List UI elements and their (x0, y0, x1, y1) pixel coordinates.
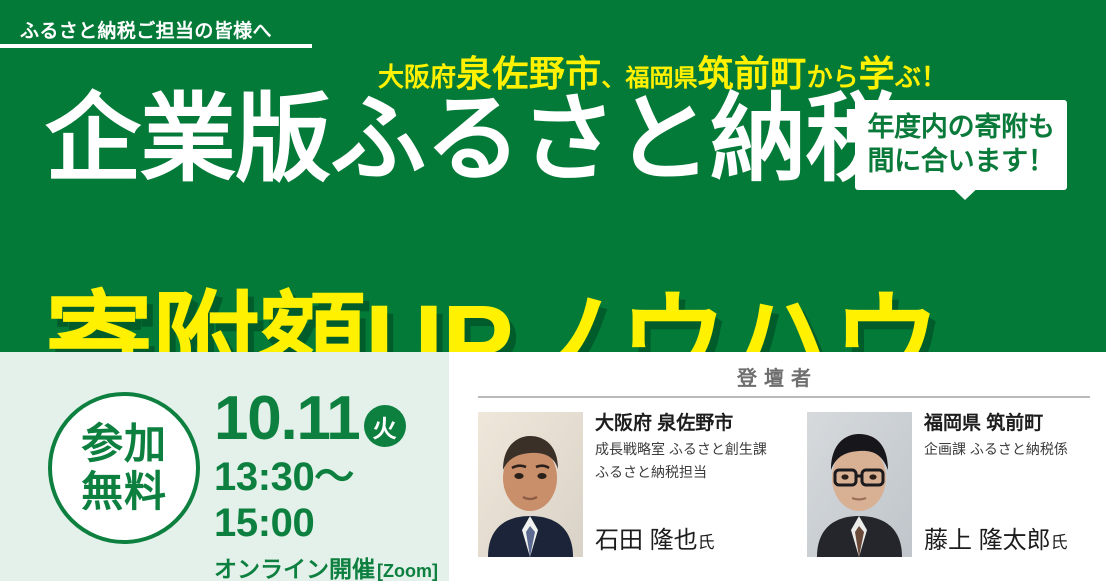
callout-pointer-icon (945, 181, 985, 200)
speakers-panel: 登壇者 (449, 352, 1106, 581)
event-format: オンライン開催 (214, 550, 375, 584)
free-badge-line-2: 無料 (81, 468, 167, 516)
event-info-panel: 参加 無料 10.11 火 13:30〜15:00 オンライン開催 [Zoom] (0, 352, 449, 581)
speaker-name-suffix: 氏 (1051, 533, 1068, 552)
speaker-name-row: 石田 隆也氏 (595, 527, 777, 557)
speakers-list: 大阪府 泉佐野市 成長戦略室 ふるさと創生課 ふるさと納税担当 石田 隆也氏 (478, 412, 1106, 557)
speaker-text: 福岡県 筑前町 企画課 ふるさと納税係 藤上 隆太郎氏 (924, 412, 1106, 557)
event-format-row: オンライン開催 [Zoom] (214, 550, 444, 584)
speaker-photo (478, 412, 583, 557)
title-line-1: 企業版ふるさと納税 (45, 88, 900, 192)
event-platform: [Zoom] (377, 561, 438, 582)
speakers-divider (478, 396, 1090, 398)
event-date: 10.11 (214, 388, 360, 450)
portrait-icon (807, 412, 912, 557)
callout-line-2: 間に合います！ (863, 144, 1059, 178)
callout-line-1: 年度内の寄附も (863, 110, 1059, 144)
title-line-2-wrapper: 寄附額UPノウハウ 寄附額UPノウハウ (45, 284, 1105, 352)
speaker-org: 福岡県 筑前町 (924, 412, 1106, 436)
speaker-name: 藤上 隆太郎 (924, 527, 1051, 554)
title-line-2: 寄附額UPノウハウ (45, 284, 939, 352)
eyebrow-text: ふるさと納税ご担当の皆様へ (20, 16, 272, 43)
eyebrow-underline (0, 44, 312, 48)
deadline-callout: 年度内の寄附も 間に合います！ (855, 100, 1067, 190)
day-of-week-badge: 火 (364, 405, 406, 447)
speaker-text: 大阪府 泉佐野市 成長戦略室 ふるさと創生課 ふるさと納税担当 石田 隆也氏 (595, 412, 777, 557)
event-date-block: 10.11 火 13:30〜15:00 オンライン開催 [Zoom] (214, 388, 444, 584)
free-admission-badge: 参加 無料 (48, 392, 200, 544)
speaker-dept-line-1: 企画課 ふるさと納税係 (924, 439, 1106, 459)
free-badge-line-1: 参加 (81, 420, 167, 468)
hero-section: ふるさと納税ご担当の皆様へ 大阪府 泉佐野市 、福岡県 筑前町 から 学 ぶ！ … (0, 0, 1106, 352)
seminar-banner: ふるさと納税ご担当の皆様へ 大阪府 泉佐野市 、福岡県 筑前町 から 学 ぶ！ … (0, 0, 1106, 581)
speaker-card: 大阪府 泉佐野市 成長戦略室 ふるさと創生課 ふるさと納税担当 石田 隆也氏 (478, 412, 777, 557)
speaker-name-suffix: 氏 (698, 533, 715, 552)
speaker-photo (807, 412, 912, 557)
speaker-org: 大阪府 泉佐野市 (595, 412, 777, 436)
speakers-heading: 登壇者 (449, 362, 1106, 391)
speaker-card: 福岡県 筑前町 企画課 ふるさと納税係 藤上 隆太郎氏 (807, 412, 1106, 557)
event-time: 13:30〜15:00 (214, 454, 444, 546)
portrait-icon (478, 412, 583, 557)
hero-subtitle: 大阪府 泉佐野市 、福岡県 筑前町 から 学 ぶ！ (378, 45, 1078, 85)
speaker-name-row: 藤上 隆太郎氏 (924, 527, 1106, 557)
speaker-name: 石田 隆也 (595, 527, 698, 554)
event-date-row: 10.11 火 (214, 388, 444, 450)
speaker-dept-line-1: 成長戦略室 ふるさと創生課 (595, 439, 777, 459)
speaker-dept-line-2: ふるさと納税担当 (595, 462, 777, 482)
